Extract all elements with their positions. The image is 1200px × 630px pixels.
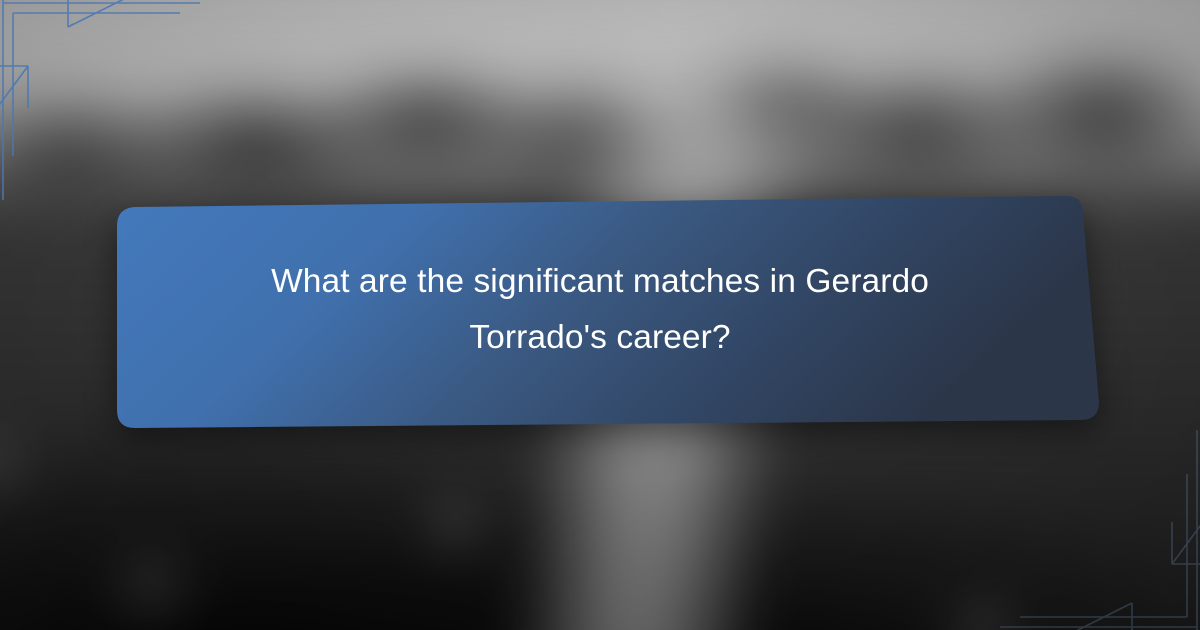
question-title: What are the significant matches in Gera… bbox=[205, 254, 995, 366]
social-card-canvas: What are the significant matches in Gera… bbox=[0, 0, 1200, 630]
question-text-block: What are the significant matches in Gera… bbox=[99, 196, 1101, 428]
question-card: What are the significant matches in Gera… bbox=[99, 196, 1101, 428]
